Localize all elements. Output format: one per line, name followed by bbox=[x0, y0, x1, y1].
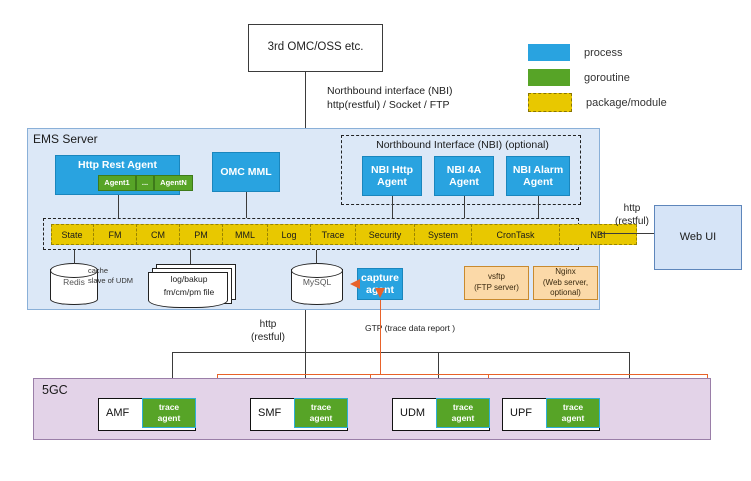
third-party-omc-oss-label: 3rd OMC/OSS etc. bbox=[268, 41, 364, 54]
nbi-connection-label: Northbound interface (NBI) http(restful)… bbox=[327, 84, 537, 114]
nf-smf-label: SMF bbox=[258, 407, 281, 419]
package-cell-security: Security bbox=[356, 224, 415, 245]
legend-item-goroutine: goroutine bbox=[528, 65, 738, 90]
nbi-alarm-agent-line2: Agent bbox=[523, 176, 553, 188]
nbi-http-agent-line1: NBI Http bbox=[371, 164, 413, 176]
nbi-connection-label-line2: http(restful) / Socket / FTP bbox=[327, 98, 537, 112]
package-cell-cm: CM bbox=[137, 224, 180, 245]
web-ui-link-label: http (restful) bbox=[608, 202, 656, 228]
legend: process goroutine package/module bbox=[528, 40, 738, 116]
third-party-omc-oss-box: 3rd OMC/OSS etc. bbox=[248, 24, 383, 72]
goroutine-agent-ellipsis: ... bbox=[136, 175, 154, 191]
nginx-line3: optional) bbox=[550, 288, 581, 297]
package-cell-mml: MML bbox=[223, 224, 268, 245]
legend-swatch-package-icon bbox=[528, 93, 572, 112]
connector-packages-to-mysql bbox=[316, 250, 317, 264]
legend-label-goroutine: goroutine bbox=[584, 72, 630, 84]
package-cell-system: System bbox=[415, 224, 472, 245]
capture-agent-box: captureagent bbox=[357, 268, 403, 300]
package-cell-log: Log bbox=[268, 224, 311, 245]
gtp-link-label: GTP (trace data report ) bbox=[365, 323, 525, 333]
connector-gtp-to-capture-agent bbox=[380, 300, 381, 374]
web-ui-link-line2: (restful) bbox=[608, 215, 656, 228]
fivegc-title: 5GC bbox=[42, 383, 68, 397]
mysql-database-icon: MySQL bbox=[291, 263, 343, 305]
nf-smf-trace-agent: traceagent bbox=[294, 398, 348, 428]
connector-nbialarm-to-packages bbox=[538, 196, 539, 218]
nf-upf-box: UPF traceagent bbox=[502, 398, 600, 431]
package-module-bar: StateFMCMPMMMLLogTraceSecuritySystemCron… bbox=[51, 224, 637, 245]
nf-upf-trace-line1: trace bbox=[563, 402, 583, 412]
connector-packages-to-logfiles bbox=[190, 250, 191, 264]
nbi-4a-agent-line2: Agent bbox=[449, 176, 479, 188]
capture-agent-line1: capture bbox=[361, 272, 399, 284]
log-file-line1: log/bakup bbox=[150, 273, 228, 286]
http-restful-link-label: http (restful) bbox=[240, 318, 296, 344]
connector-omcmml-to-packages bbox=[246, 192, 247, 218]
connector-packages-to-redis bbox=[74, 250, 75, 264]
nbi-4a-agent-box: NBI 4AAgent bbox=[434, 156, 494, 196]
goroutine-agent1: Agent1 bbox=[98, 175, 136, 191]
connector-nbi4a-to-packages bbox=[464, 196, 465, 218]
nf-upf-trace-agent: traceagent bbox=[546, 398, 600, 428]
nf-smf-box: SMF traceagent bbox=[250, 398, 348, 431]
nbi-http-agent-box: NBI HttpAgent bbox=[362, 156, 422, 196]
package-cell-pm: PM bbox=[180, 224, 223, 245]
package-cell-trace: Trace bbox=[311, 224, 356, 245]
nbi-http-agent-line2: Agent bbox=[377, 176, 407, 188]
legend-item-package: package/module bbox=[528, 90, 738, 115]
capture-agent-line2: agent bbox=[366, 284, 394, 296]
connector-httprestagent-to-packages bbox=[118, 195, 119, 218]
nf-amf-trace-line2: agent bbox=[158, 413, 181, 423]
nbi-optional-group-title: Northbound Interface (NBI) (optional) bbox=[350, 139, 575, 151]
omc-mml-box: OMC MML bbox=[212, 152, 280, 192]
nginx-line2: (Web server, bbox=[543, 278, 588, 287]
goroutine-agentn: AgentN bbox=[154, 175, 193, 191]
nginx-server-box: Nginx(Web server,optional) bbox=[533, 266, 598, 300]
nginx-line1: Nginx bbox=[555, 267, 575, 276]
nf-amf-label: AMF bbox=[106, 407, 129, 419]
web-ui-link-line1: http bbox=[608, 202, 656, 215]
nbi-connection-label-line1: Northbound interface (NBI) bbox=[327, 84, 537, 98]
http-restful-link-line1: http bbox=[240, 318, 296, 331]
nf-udm-trace-agent: traceagent bbox=[436, 398, 490, 428]
nf-upf-trace-line2: agent bbox=[562, 413, 585, 423]
ems-server-title: EMS Server bbox=[33, 132, 98, 146]
connector-omc-to-ems bbox=[305, 72, 306, 128]
legend-swatch-process-icon bbox=[528, 44, 570, 61]
http-bus-horizontal bbox=[172, 352, 630, 353]
gtp-bus-horizontal bbox=[217, 374, 707, 375]
nf-udm-label: UDM bbox=[400, 407, 425, 419]
legend-label-process: process bbox=[584, 47, 623, 59]
log-file-stack-label: log/bakup fm/cm/pm file bbox=[150, 273, 228, 299]
legend-swatch-goroutine-icon bbox=[528, 69, 570, 86]
log-file-line2: fm/cm/pm file bbox=[150, 286, 228, 299]
mysql-label: MySQL bbox=[291, 277, 343, 287]
nf-udm-box: UDM traceagent bbox=[392, 398, 490, 431]
web-ui-box: Web UI bbox=[654, 205, 742, 270]
nbi-alarm-agent-line1: NBI Alarm bbox=[513, 164, 563, 176]
vsftp-server-box: vsftp(FTP server) bbox=[464, 266, 529, 300]
nf-udm-trace-line2: agent bbox=[452, 413, 475, 423]
connector-nbihttp-to-packages bbox=[392, 196, 393, 218]
vsftp-line2: (FTP server) bbox=[474, 283, 519, 292]
package-cell-state: State bbox=[51, 224, 94, 245]
package-cell-crontask: CronTask bbox=[472, 224, 560, 245]
nbi-alarm-agent-box: NBI AlarmAgent bbox=[506, 156, 570, 196]
nf-amf-trace-line1: trace bbox=[159, 402, 179, 412]
package-cell-fm: FM bbox=[94, 224, 137, 245]
http-restful-link-line2: (restful) bbox=[240, 331, 296, 344]
nf-upf-label: UPF bbox=[510, 407, 532, 419]
http-rest-agent-title: Http Rest Agent bbox=[55, 158, 180, 173]
nf-amf-trace-agent: traceagent bbox=[142, 398, 196, 428]
nf-smf-trace-line2: agent bbox=[310, 413, 333, 423]
nf-amf-box: AMF traceagent bbox=[98, 398, 196, 431]
legend-label-package: package/module bbox=[586, 97, 667, 109]
nf-smf-trace-line1: trace bbox=[311, 402, 331, 412]
vsftp-line1: vsftp bbox=[488, 272, 505, 281]
legend-item-process: process bbox=[528, 40, 738, 65]
nf-udm-trace-line1: trace bbox=[453, 402, 473, 412]
nbi-4a-agent-line1: NBI 4A bbox=[447, 164, 481, 176]
connector-ems-to-webui bbox=[600, 233, 654, 234]
connector-ems-to-http-bus bbox=[305, 310, 306, 352]
